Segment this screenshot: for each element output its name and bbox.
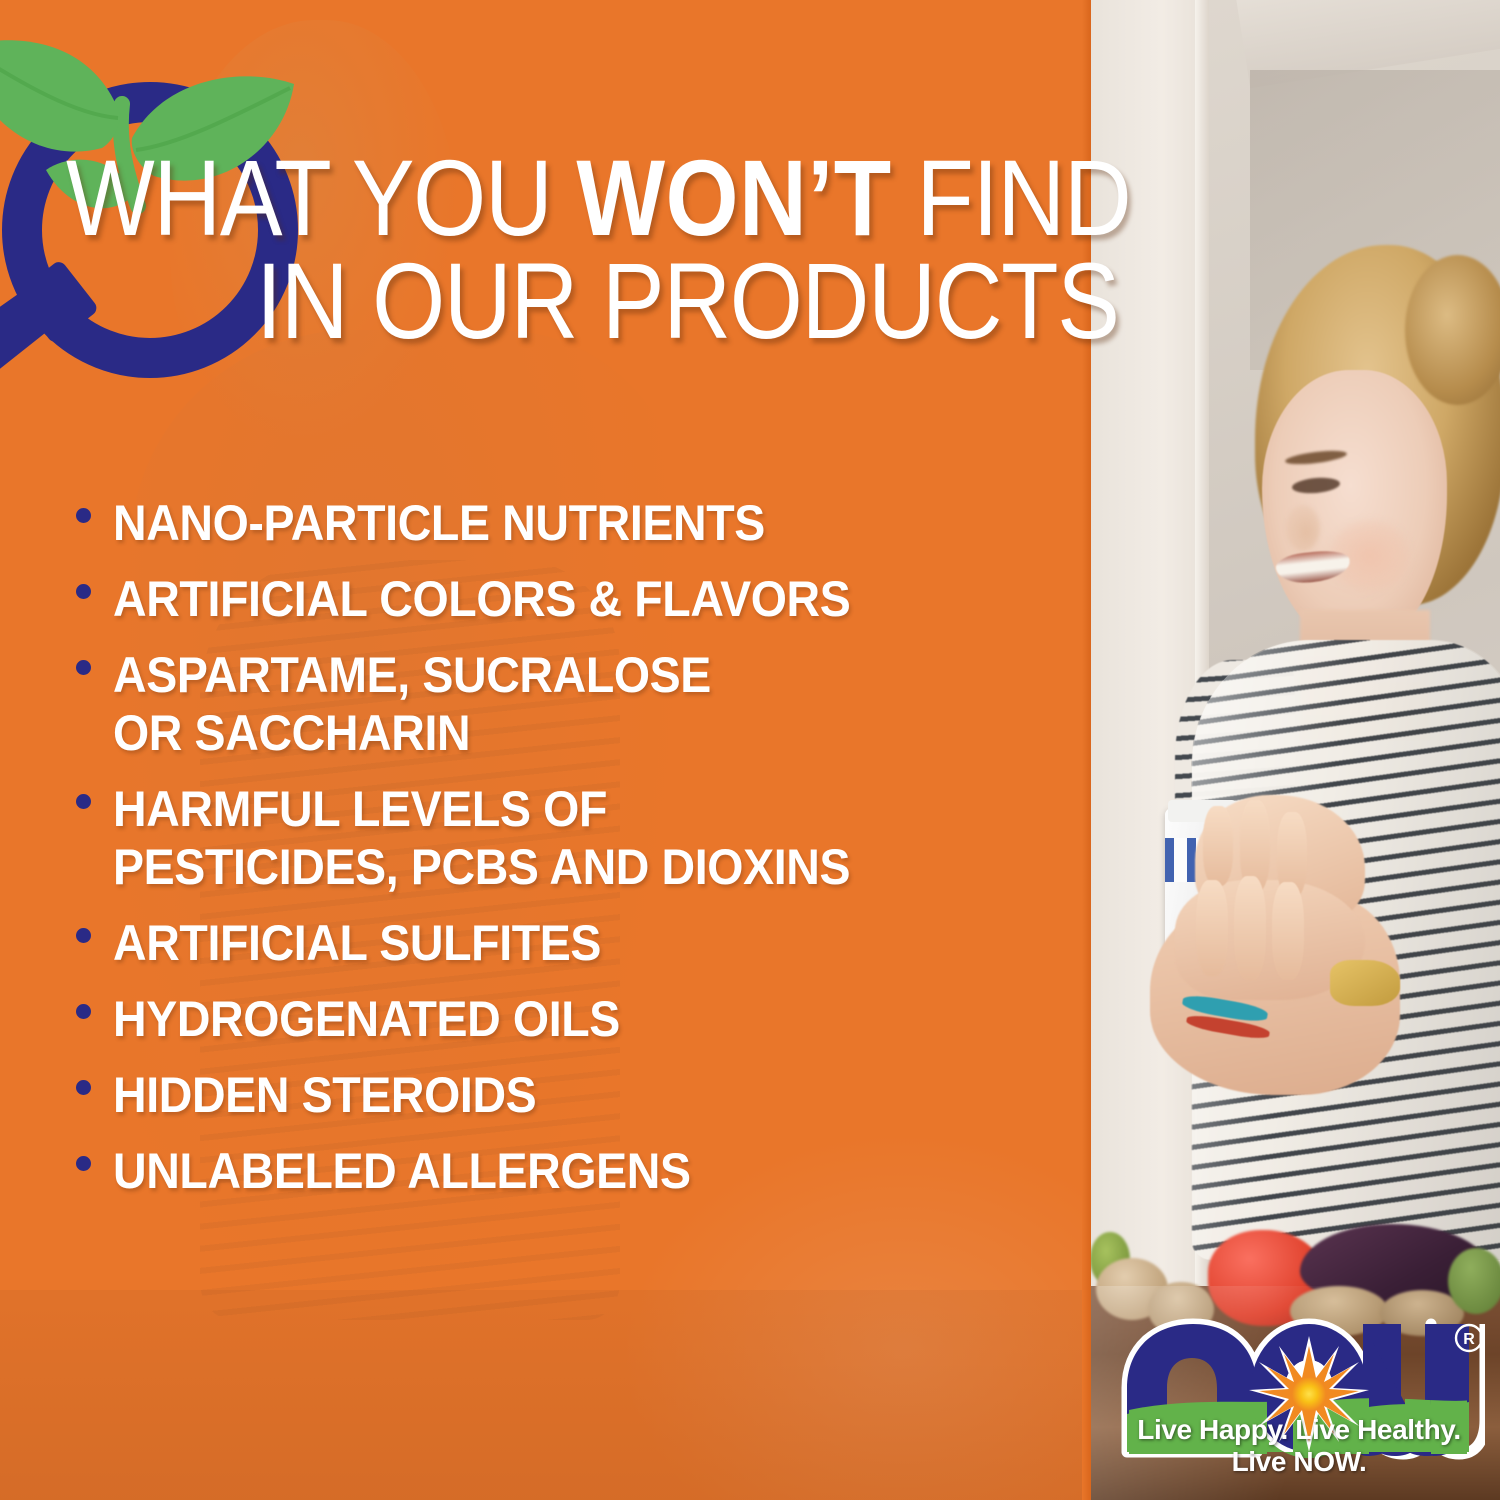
bullet-line-1: ARTIFICIAL COLORS & FLAVORS <box>113 571 850 627</box>
bullet-dot-icon <box>76 508 91 523</box>
brand-tagline: Live Happy. Live Healthy. Live NOW. <box>1113 1414 1485 1478</box>
list-item: ARTIFICIAL COLORS & FLAVORS <box>0 570 1090 628</box>
list-item: ARTIFICIAL SULFITES <box>0 914 1090 972</box>
nose <box>1286 505 1320 551</box>
bullet-line-1: HIDDEN STEROIDS <box>113 1067 536 1123</box>
bullet-line-1: HYDROGENATED OILS <box>113 991 620 1047</box>
list-item: HYDROGENATED OILS <box>0 990 1090 1048</box>
ghost-photo-counter <box>0 1290 1090 1500</box>
bullet-text: ARTIFICIAL COLORS & FLAVORS <box>113 570 850 628</box>
finger <box>1196 880 1228 976</box>
wristwatch <box>1330 960 1400 1006</box>
list-item: ASPARTAME, SUCRALOSE OR SACCHARIN <box>0 646 1090 762</box>
bullet-dot-icon <box>76 1004 91 1019</box>
bullet-line-1: NANO-PARTICLE NUTRIENTS <box>113 495 765 551</box>
headline-line-2: IN OUR PRODUCTS <box>256 249 1338 352</box>
bullet-text: NANO-PARTICLE NUTRIENTS <box>113 494 765 552</box>
bullet-line-1: ASPARTAME, SUCRALOSE <box>113 647 711 703</box>
finger <box>1203 806 1233 886</box>
list-item: HIDDEN STEROIDS <box>0 1066 1090 1124</box>
list-item: UNLABELED ALLERGENS <box>0 1142 1090 1200</box>
bullet-dot-icon <box>76 794 91 809</box>
bullet-line-2: PESTICIDES, PCBS AND DIOXINS <box>113 838 850 896</box>
bullet-text: ASPARTAME, SUCRALOSE OR SACCHARIN <box>113 646 711 762</box>
bullet-line-2: OR SACCHARIN <box>113 704 711 762</box>
bullet-text: UNLABELED ALLERGENS <box>113 1142 691 1200</box>
list-item: NANO-PARTICLE NUTRIENTS <box>0 494 1090 552</box>
bullet-text: ARTIFICIAL SULFITES <box>113 914 601 972</box>
bullet-text: HYDROGENATED OILS <box>113 990 620 1048</box>
bullet-line-1: ARTIFICIAL SULFITES <box>113 915 601 971</box>
bullet-text: HIDDEN STEROIDS <box>113 1066 536 1124</box>
bullet-line-1: UNLABELED ALLERGENS <box>113 1143 691 1199</box>
bullet-dot-icon <box>76 928 91 943</box>
promotional-graphic: WHAT YOU WON’T FIND IN OUR PRODUCTS NANO… <box>0 0 1500 1500</box>
list-item: HARMFUL LEVELS OF PESTICIDES, PCBS AND D… <box>0 780 1090 896</box>
bullet-dot-icon <box>76 660 91 675</box>
exclusions-list: NANO-PARTICLE NUTRIENTS ARTIFICIAL COLOR… <box>0 494 1090 1218</box>
bullet-dot-icon <box>76 1156 91 1171</box>
headline-block: WHAT YOU WON’T FIND IN OUR PRODUCTS <box>0 0 1500 352</box>
bullet-line-1: HARMFUL LEVELS OF <box>113 781 607 837</box>
svg-text:R: R <box>1463 1331 1475 1348</box>
bullet-dot-icon <box>76 584 91 599</box>
finger <box>1234 876 1266 980</box>
bullet-text: HARMFUL LEVELS OF PESTICIDES, PCBS AND D… <box>113 780 850 896</box>
bullet-dot-icon <box>76 1080 91 1095</box>
finger <box>1272 882 1304 980</box>
headline-line-1: WHAT YOU WON’T FIND <box>66 146 1314 249</box>
